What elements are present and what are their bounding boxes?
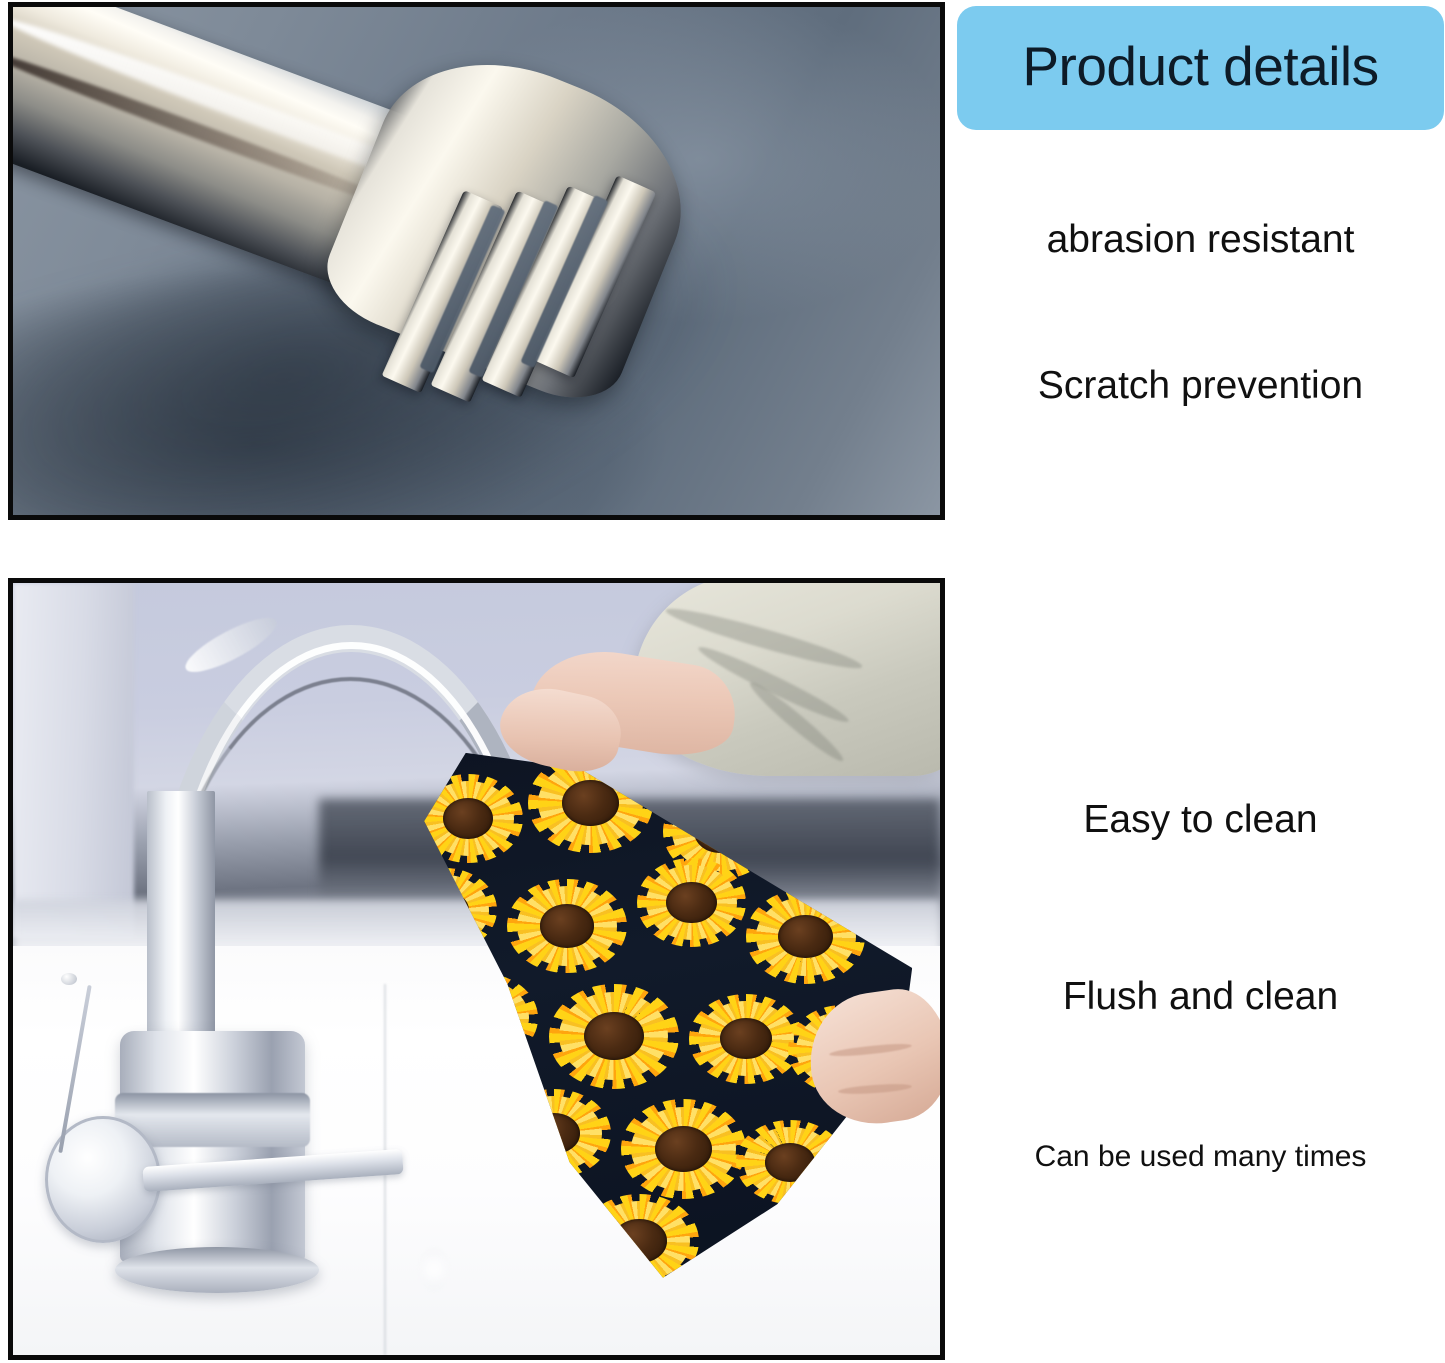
sunflower-13: [621, 1099, 746, 1199]
product-photo-faucet-cloth: [8, 578, 945, 1360]
product-details-badge: Product details: [957, 6, 1444, 130]
sunflower-9: [549, 984, 679, 1089]
feature-flush-and-clean: Flush and clean: [957, 975, 1444, 1019]
sunflower-10: [689, 994, 803, 1083]
faucet-rod-knob: [61, 973, 77, 985]
sunflower-6: [637, 858, 746, 947]
faucet-base-ring: [115, 1247, 319, 1293]
feature-scratch-prevention: Scratch prevention: [957, 364, 1444, 408]
product-photo-fork: [8, 2, 945, 520]
wall-panel: [13, 583, 134, 938]
product-details-label: Product details: [1022, 34, 1378, 98]
feature-abrasion-resistant: abrasion resistant: [957, 218, 1444, 262]
sink-highlight: [421, 1247, 447, 1291]
feature-easy-to-clean: Easy to clean: [957, 798, 1444, 842]
faucet-riser: [147, 791, 215, 1069]
feature-can-be-used-many-times: Can be used many times: [957, 1140, 1444, 1174]
sunflower-5: [507, 879, 626, 973]
